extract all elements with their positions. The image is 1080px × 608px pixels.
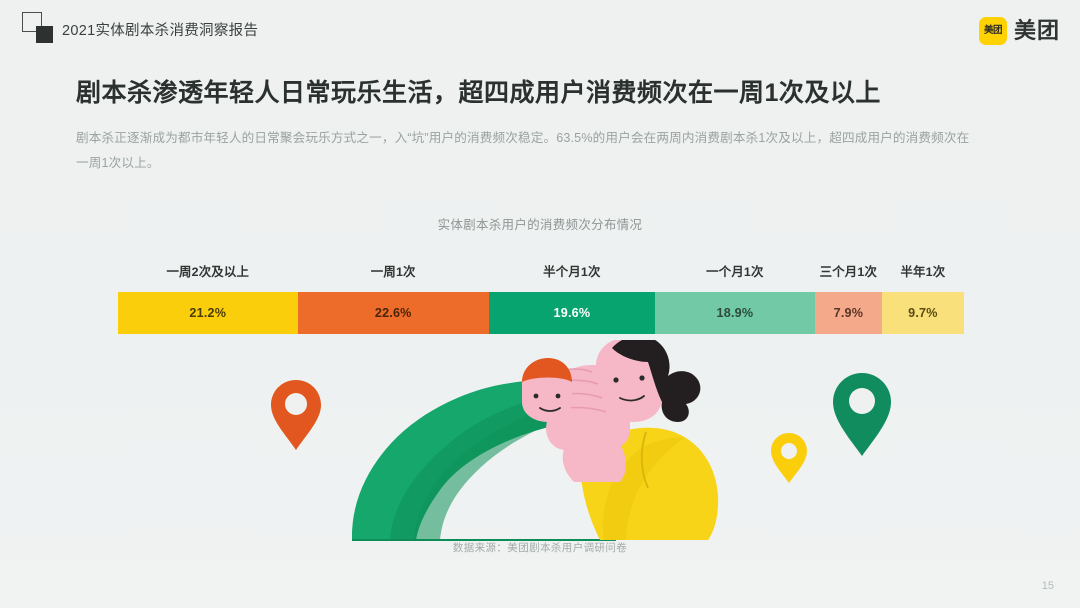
left-person-head-illustration: [522, 358, 572, 422]
chart-category-label: 半个月1次: [489, 262, 655, 280]
chart-category-label: 一周1次: [298, 262, 489, 280]
meituan-badge-icon: 美团: [979, 17, 1007, 45]
right-person-head-illustration: [596, 340, 700, 422]
report-header-title: 2021实体剧本杀消费洞察报告: [62, 19, 258, 40]
map-pin-orange-icon: [271, 380, 321, 450]
chart-bar-segment[interactable]: 19.6%: [489, 292, 655, 334]
sleeve-illustration: [563, 444, 626, 482]
meituan-logo-text: 美团: [1014, 20, 1060, 42]
page-title: 剧本杀渗透年轻人日常玩乐生活，超四成用户消费频次在一周1次及以上: [76, 78, 1010, 109]
data-source-note: 数据来源：美团剧本杀用户调研问卷: [0, 540, 1080, 555]
chart-bar-segment[interactable]: 22.6%: [298, 292, 489, 334]
chart-title: 实体剧本杀用户的消费频次分布情况: [0, 215, 1080, 233]
page-subtitle: 剧本杀正逐渐成为都市年轻人的日常聚会玩乐方式之一，入“坑”用户的消费频次稳定。6…: [76, 126, 981, 175]
brand-square-solid-icon: [36, 26, 53, 43]
brand-squares-icon: [22, 12, 58, 44]
map-pin-yellow-icon: [771, 433, 807, 483]
chart-category-labels-row: 一周2次及以上一周1次半个月1次一个月1次三个月1次半年1次: [118, 258, 964, 284]
title-block: 剧本杀渗透年轻人日常玩乐生活，超四成用户消费频次在一周1次及以上 剧本杀正逐渐成…: [76, 78, 1010, 175]
page-number: 15: [1042, 580, 1054, 592]
frequency-distribution-chart: 一周2次及以上一周1次半个月1次一个月1次三个月1次半年1次 21.2%22.6…: [118, 258, 964, 334]
chart-category-label: 半年1次: [882, 262, 964, 280]
chart-category-label: 一周2次及以上: [118, 262, 298, 280]
illustration-area: [0, 340, 1080, 570]
chart-stacked-bar: 21.2%22.6%19.6%18.9%7.9%9.7%: [118, 292, 964, 334]
map-pin-green-icon: [833, 373, 891, 456]
chart-category-label: 一个月1次: [655, 262, 815, 280]
chart-bar-segment[interactable]: 21.2%: [118, 292, 298, 334]
chart-category-label: 三个月1次: [815, 262, 882, 280]
chart-bar-segment[interactable]: 9.7%: [882, 292, 964, 334]
meituan-logo: 美团 美团: [979, 17, 1060, 45]
slide-canvas: 2021实体剧本杀消费洞察报告 美团 美团 剧本杀渗透年轻人日常玩乐生活，超四成…: [0, 0, 1080, 608]
slide-header: 2021实体剧本杀消费洞察报告 美团 美团: [0, 0, 1080, 60]
chart-bar-segment[interactable]: 7.9%: [815, 292, 882, 334]
chart-bar-segment[interactable]: 18.9%: [655, 292, 815, 334]
